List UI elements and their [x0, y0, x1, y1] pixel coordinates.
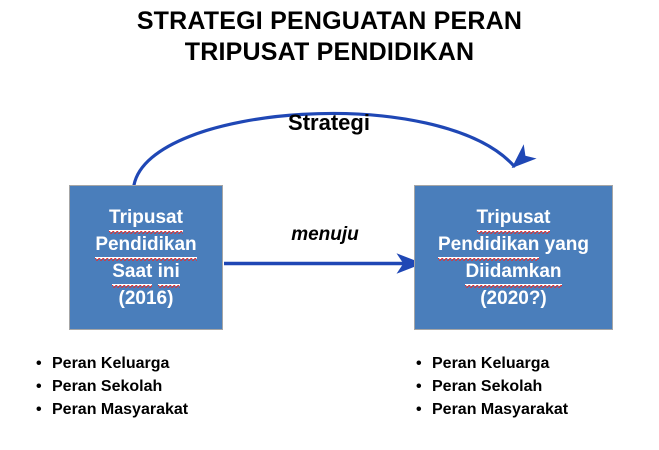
box-current-year: (2016): [119, 286, 174, 311]
list-item-label: Peran Sekolah: [432, 375, 542, 398]
box-current-line-1: Tripusat: [109, 205, 183, 232]
bullet-list-desired: • Peran Keluarga • Peran Sekolah • Peran…: [416, 352, 568, 421]
box-current-line-2: Pendidikan: [95, 232, 196, 259]
spellcheck-word: Pendidikan: [95, 232, 196, 259]
list-item: • Peran Sekolah: [416, 375, 568, 398]
bullet-marker-icon: •: [36, 352, 52, 375]
spellcheck-word: Diidamkan: [465, 259, 561, 286]
page-title-line-1: STRATEGI PENGUATAN PERAN: [0, 6, 659, 37]
strategi-curved-arrow: [110, 86, 540, 194]
spellcheck-word: ini: [158, 259, 180, 286]
list-item: • Peran Masyarakat: [416, 398, 568, 421]
box-desired-word-yang: yang: [545, 232, 589, 257]
list-item-label: Peran Masyarakat: [432, 398, 568, 421]
menuju-label: menuju: [255, 224, 395, 246]
list-item: • Peran Keluarga: [416, 352, 568, 375]
box-current-state[interactable]: Tripusat Pendidikan Saat ini (2016): [69, 185, 223, 330]
bullet-marker-icon: •: [416, 352, 432, 375]
spellcheck-word: Pendidikan: [438, 232, 539, 259]
spellcheck-word: Saat: [112, 259, 152, 286]
list-item-label: Peran Keluarga: [432, 352, 549, 375]
list-item: • Peran Masyarakat: [36, 398, 188, 421]
spellcheck-word: Tripusat: [477, 205, 551, 232]
box-desired-state[interactable]: Tripusat Pendidikan yang Diidamkan (2020…: [414, 185, 613, 330]
box-desired-line-4: (2020?): [480, 286, 547, 311]
bullet-list-current: • Peran Keluarga • Peran Sekolah • Peran…: [36, 352, 188, 421]
menuju-straight-arrow: [224, 248, 420, 280]
slide-canvas: STRATEGI PENGUATAN PERAN TRIPUSAT PENDID…: [0, 0, 659, 450]
list-item-label: Peran Masyarakat: [52, 398, 188, 421]
box-desired-line-2: Pendidikan yang: [438, 232, 589, 259]
list-item-label: Peran Keluarga: [52, 352, 169, 375]
bullet-marker-icon: •: [36, 375, 52, 398]
page-title: STRATEGI PENGUATAN PERAN TRIPUSAT PENDID…: [0, 6, 659, 68]
box-current-line-4: (2016): [119, 286, 174, 311]
box-desired-year: (2020?): [480, 286, 547, 311]
page-title-line-2: TRIPUSAT PENDIDIKAN: [0, 37, 659, 68]
bullet-marker-icon: •: [416, 398, 432, 421]
box-current-line-3: Saat ini: [112, 259, 180, 286]
list-item: • Peran Keluarga: [36, 352, 188, 375]
strategi-label: Strategi: [244, 110, 414, 136]
spellcheck-word: Tripusat: [109, 205, 183, 232]
box-desired-line-1: Tripusat: [477, 205, 551, 232]
list-item-label: Peran Sekolah: [52, 375, 162, 398]
bullet-marker-icon: •: [36, 398, 52, 421]
bullet-marker-icon: •: [416, 375, 432, 398]
box-desired-line-3: Diidamkan: [465, 259, 561, 286]
list-item: • Peran Sekolah: [36, 375, 188, 398]
